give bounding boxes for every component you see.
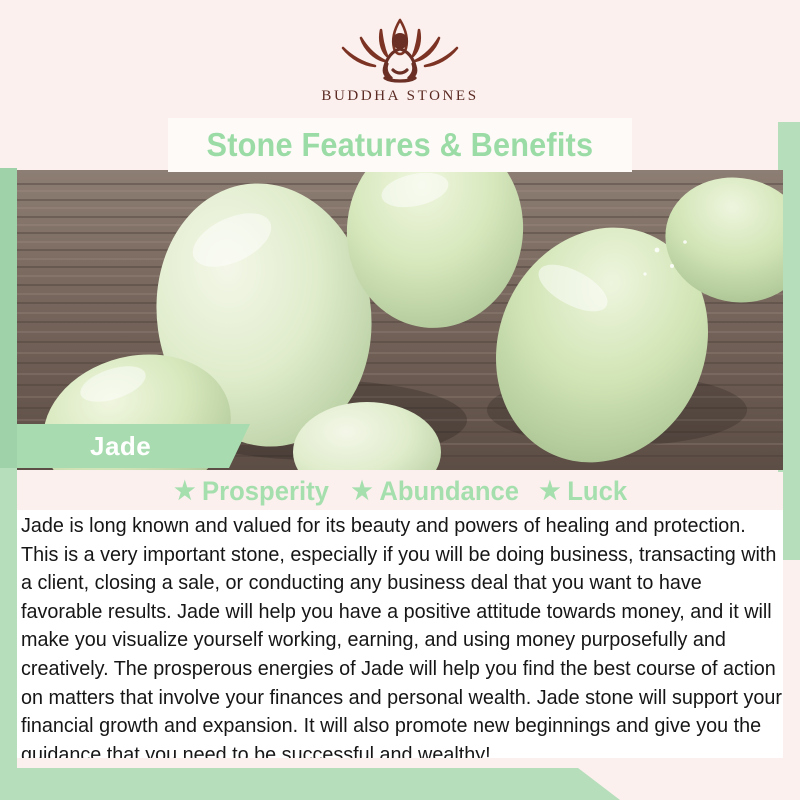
benefit-label: Abundance [379,476,519,507]
brand-name: BUDDHA STONES [321,88,478,105]
benefit-item-2: ★ Luck [540,476,628,507]
star-icon: ★ [351,479,372,504]
page-title: Stone Features & Benefits [207,126,594,164]
benefit-item-0: ★ Prosperity [174,476,329,507]
description-panel-tail [17,758,783,768]
lotus-meditation-icon [325,14,475,86]
benefit-label: Luck [568,476,628,507]
benefit-item-1: ★ Abundance [351,476,519,507]
star-icon: ★ [540,479,561,504]
benefit-label: Prosperity [202,476,329,507]
benefits-row: ★ Prosperity ★ Abundance ★ Luck [17,472,783,510]
description-text: Jade is long known and valued for its be… [21,512,783,769]
star-icon: ★ [174,479,195,504]
decor-frame-left-accent [0,168,17,468]
stone-name-band: Jade [17,424,250,468]
stone-name: Jade [90,431,151,462]
brand-header: BUDDHA STONES [0,0,800,122]
stone-info-card: BUDDHA STONES Stone Features & Benefits [0,0,800,800]
description-panel: Jade is long known and valued for its be… [17,510,783,758]
page-title-banner: Stone Features & Benefits [168,118,632,172]
